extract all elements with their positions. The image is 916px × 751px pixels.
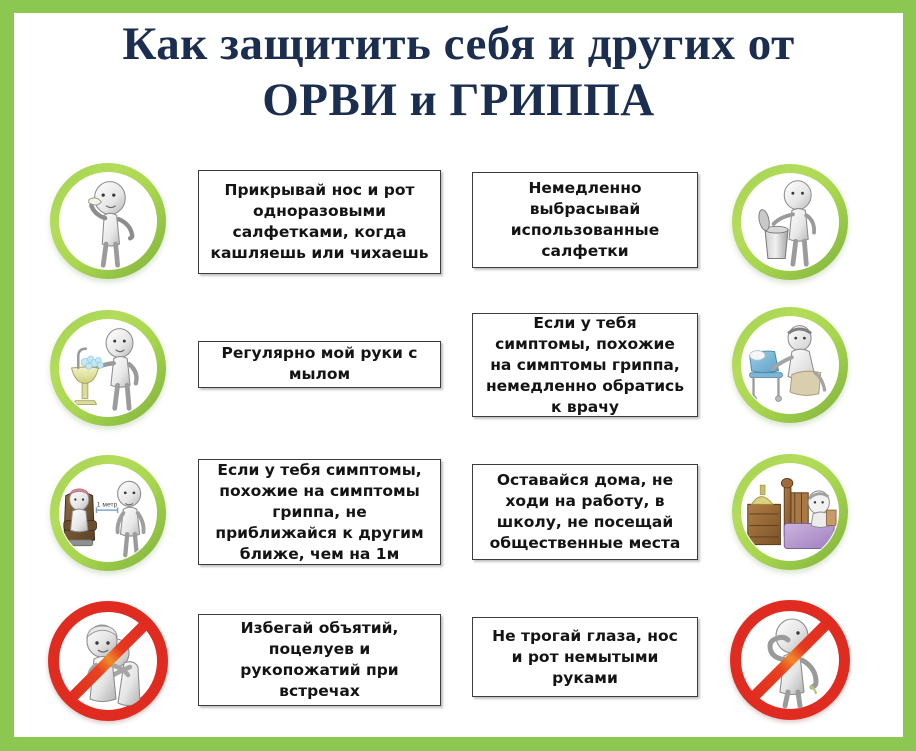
badge-illustration [742,464,838,560]
tip-text: Регулярно мой руки с мылом [222,343,418,385]
person-covering-mouth-with-tissue-icon [44,157,172,285]
badge-illustration [60,320,156,416]
tip-item: Избегай объятий, поцелуев и рукопожатий … [14,595,459,725]
tip-text: Если у тебя симптомы, похожие на симптом… [215,460,423,565]
tip-row: 1 метр Если у тебя симптомы, похожие на … [14,438,903,586]
tip-text-box: Если у тебя симптомы, похожие на симптом… [198,459,441,565]
tip-item: Прикрывай нос и рот одноразовыми салфетк… [14,159,459,285]
tip-item: Немедленно выбрасывай использованные сал… [459,158,903,286]
badge-illustration [60,173,156,269]
tip-text: Прикрывай нос и рот одноразовыми салфетк… [210,180,428,264]
badge-illustration [742,317,838,413]
badge-illustration: 1 метр [60,465,156,561]
tip-text-box: Регулярно мой руки с мылом [198,341,441,388]
person-throwing-tissue-in-bin-icon [726,158,854,286]
tip-item: 1 метр Если у тебя симптомы, похожие на … [14,447,459,577]
tip-text-box: Немедленно выбрасывай использованные сал… [472,172,698,268]
tip-item: Если у тебя симптомы, похожие на симптом… [459,301,903,429]
person-washing-hands-at-sink-icon [44,304,172,432]
tip-text: Не трогай глаза, нос и рот немытыми рука… [492,626,678,689]
person-resting-at-home-in-bed-icon [726,448,854,576]
keep-distance-one-meter-icon: 1 метр [44,449,172,577]
tip-row: Регулярно мой руки с мылом Если у тебя с… [14,292,903,438]
tip-row: Прикрывай нос и рот одноразовыми салфетк… [14,152,903,292]
frame-border-bottom [0,737,916,751]
tip-item: Не трогай глаза, нос и рот немытыми рука… [459,596,903,724]
title-line-2: ОРВИ и ГРИППА [14,72,903,128]
tip-text: Избегай объятий, поцелуев и рукопожатий … [240,618,398,702]
frame-border-top [0,0,916,13]
tip-text: Оставайся дома, не ходи на работу, в шко… [490,470,681,554]
tip-text-box: Если у тебя симптомы, похожие на симптом… [472,313,698,417]
tip-text: Если у тебя симптомы, похожие на симптом… [486,313,684,418]
poster-title: Как защитить себя и других от ОРВИ и ГРИ… [14,16,903,128]
frame-border-left [0,0,14,751]
tip-text-box: Прикрывай нос и рот одноразовыми салфетк… [198,170,441,274]
tip-text-box: Оставайся дома, не ходи на работу, в шко… [472,464,698,560]
no-hugging-icon [44,597,172,725]
tip-text-box: Избегай объятий, поцелуев и рукопожатий … [198,614,441,706]
doctor-examining-patient-in-bed-icon [726,301,854,429]
infographic-poster: Как защитить себя и других от ОРВИ и ГРИ… [0,0,916,751]
tips-grid: Прикрывай нос и рот одноразовыми салфетк… [14,152,903,737]
frame-border-right [903,0,916,751]
tip-text: Немедленно выбрасывай использованные сал… [511,178,659,262]
svg-text:1 метр: 1 метр [97,501,118,508]
tip-item: Оставайся дома, не ходи на работу, в шко… [459,448,903,576]
tip-row: Избегай объятий, поцелуев и рукопожатий … [14,586,903,734]
badge-illustration [742,174,838,270]
tip-text-box: Не трогай глаза, нос и рот немытыми рука… [472,617,698,697]
no-touching-face-icon [726,596,854,724]
tip-item: Регулярно мой руки с мылом [14,298,459,432]
title-line-1: Как защитить себя и других от [14,16,903,72]
